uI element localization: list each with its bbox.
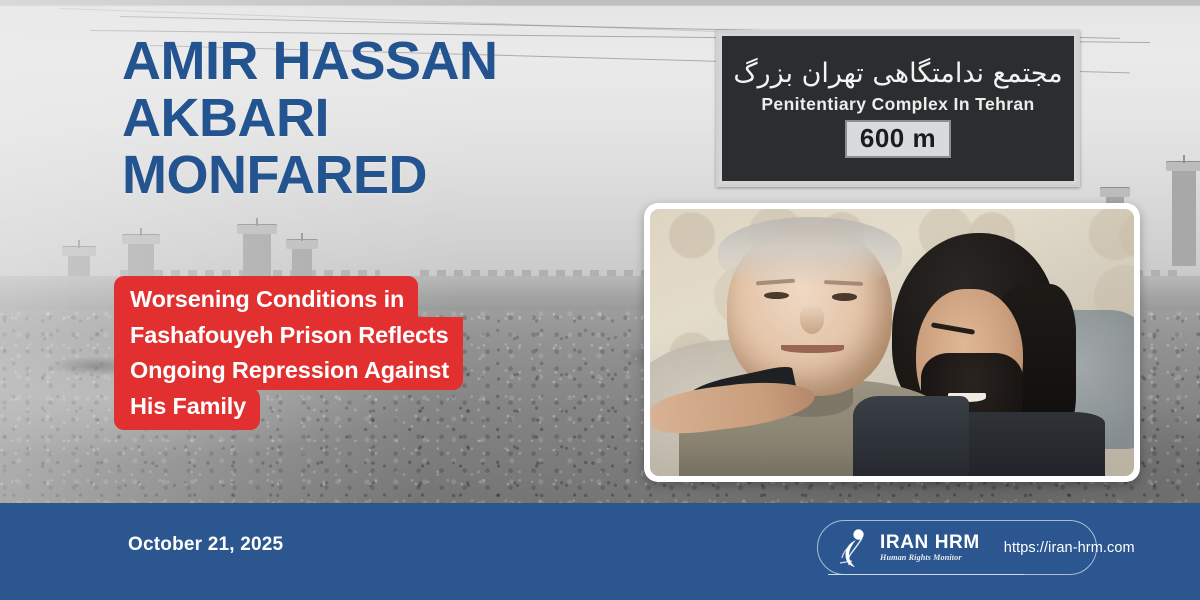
logo-text: IRAN HRM Human Rights Monitor [880, 533, 980, 563]
human-rights-figure-icon [836, 528, 870, 568]
subtitle-block: Worsening Conditions in Fashafouyeh Pris… [114, 276, 594, 430]
title-line-1: AMIR HASSAN [122, 33, 682, 90]
logo-name: IRAN HRM [880, 533, 980, 552]
portrait-photo-image [650, 209, 1134, 476]
subtitle-line: Worsening Conditions in [114, 276, 418, 319]
watchtower [1172, 170, 1196, 266]
page-title: AMIR HASSAN AKBARI MONFARED [122, 33, 682, 205]
title-line-3: MONFARED [122, 147, 682, 204]
website-url-link[interactable]: https://iran-hrm.com [1004, 540, 1135, 556]
publication-date: October 21, 2025 [128, 534, 283, 556]
logo-tagline: Human Rights Monitor [880, 554, 980, 562]
portrait-photo [644, 203, 1140, 482]
logo-pill[interactable]: IRAN HRM Human Rights Monitor https://ir… [817, 520, 1097, 575]
logo-underline-rule [828, 574, 1024, 575]
road-sign-farsi-text: مجتمع ندامتگاهی تهران بزرگ [733, 59, 1062, 89]
road-sign: مجتمع ندامتگاهی تهران بزرگ Penitentiary … [716, 30, 1080, 187]
subtitle-line: Ongoing Repression Against [114, 352, 463, 390]
subtitle-line: His Family [114, 388, 260, 431]
news-banner: مجتمع ندامتگاهی تهران بزرگ Penitentiary … [0, 0, 1200, 600]
subtitle-line: Fashafouyeh Prison Reflects [114, 317, 463, 355]
footer-bar: October 21, 2025 IRAN HRM Human Rights M… [0, 503, 1200, 600]
title-line-2: AKBARI [122, 90, 682, 147]
road-sign-distance: 600 m [845, 120, 951, 158]
road-sign-english-text: Penitentiary Complex In Tehran [761, 94, 1034, 115]
